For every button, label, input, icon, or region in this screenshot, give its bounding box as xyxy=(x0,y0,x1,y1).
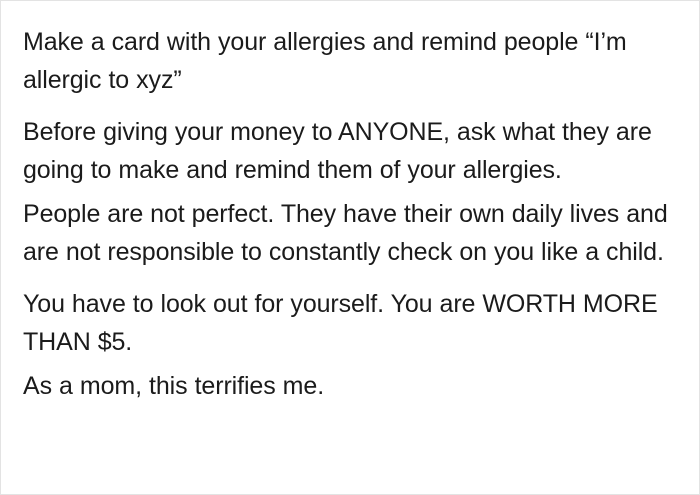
paragraph-5: As a mom, this terrifies me. xyxy=(23,367,675,405)
paragraph-4: You have to look out for yourself. You a… xyxy=(23,285,675,361)
text-excerpt-card: Make a card with your allergies and remi… xyxy=(0,0,700,495)
paragraph-3: People are not perfect. They have their … xyxy=(23,195,675,271)
paragraph-2: Before giving your money to ANYONE, ask … xyxy=(23,113,675,189)
paragraph-container: Make a card with your allergies and remi… xyxy=(1,1,699,405)
paragraph-1: Make a card with your allergies and remi… xyxy=(23,23,675,99)
